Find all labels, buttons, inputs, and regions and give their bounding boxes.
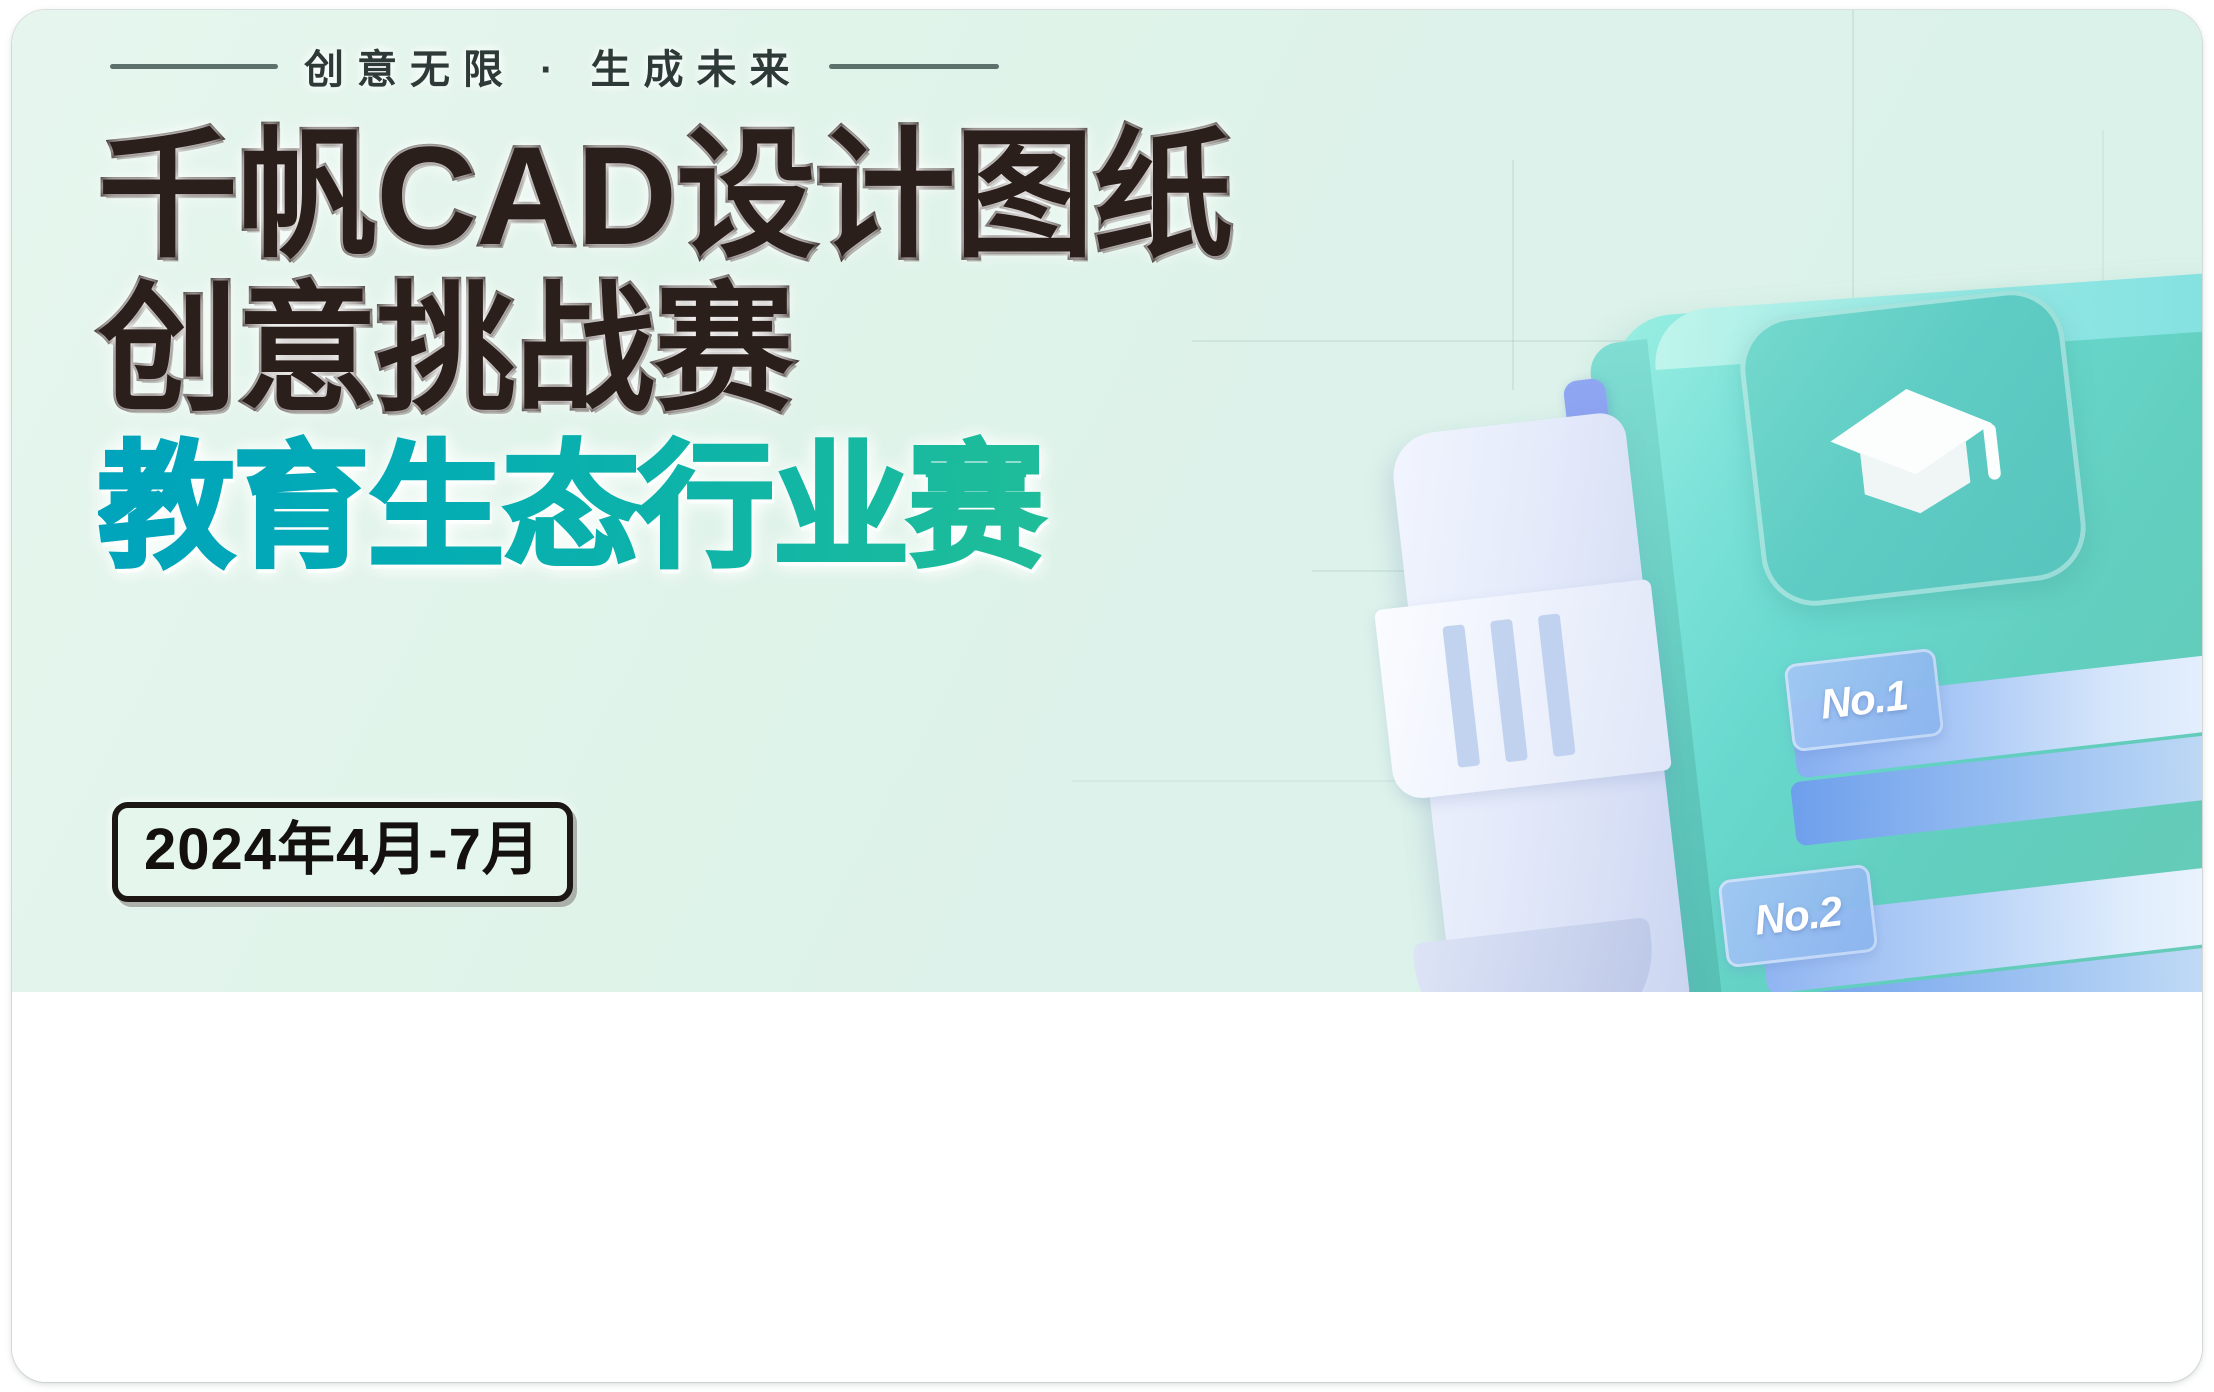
tagline-text: 创意无限 · 生成未来	[304, 37, 803, 95]
paper-stripe	[1442, 624, 1480, 768]
paper-stripe	[1538, 613, 1576, 757]
tagline-rule-right	[829, 64, 999, 69]
banner-hero: 创意无限 · 生成未来 千帆CAD设计图纸 创意挑战赛 教育生态行业赛 2024…	[12, 10, 2202, 992]
paper-stripe	[1490, 619, 1528, 763]
banner-tagline: 创意无限 · 生成未来	[110, 38, 1180, 94]
rank-tag-no2: No.2	[1718, 864, 1879, 969]
date-badge-text: 2024年4月-7月	[144, 817, 541, 882]
date-badge: 2024年4月-7月	[112, 802, 573, 902]
rank-tag-no1: No.1	[1784, 648, 1945, 753]
tagline-rule-left	[110, 64, 278, 69]
promo-banner-card[interactable]: 创意无限 · 生成未来 千帆CAD设计图纸 创意挑战赛 教育生态行业赛 2024…	[12, 10, 2202, 1382]
paper-sheet-shape	[1374, 579, 1672, 801]
hero-illustration: No.1 No.2	[1322, 190, 2202, 992]
graduation-cap-icon	[1811, 363, 2015, 533]
graduation-cap-tile	[1735, 284, 2092, 611]
rank-tag-label: No.1	[1818, 671, 1910, 729]
rank-tag-label: No.2	[1752, 887, 1844, 945]
card-body-area	[12, 992, 2202, 1382]
